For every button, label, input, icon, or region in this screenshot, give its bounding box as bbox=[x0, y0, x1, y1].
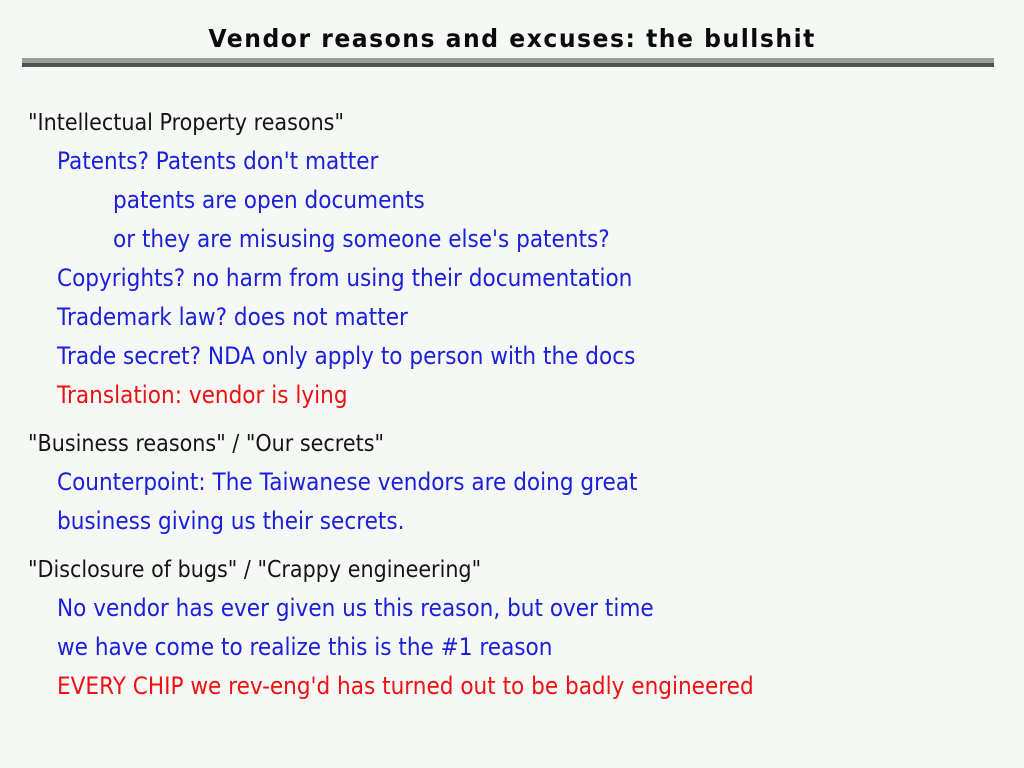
section-spacer bbox=[0, 415, 1024, 425]
title-divider-rule bbox=[22, 58, 994, 67]
page-title: Vendor reasons and excuses: the bullshit bbox=[208, 24, 815, 54]
section-spacer bbox=[0, 541, 1024, 551]
bullet-line: or they are misusing someone else's pate… bbox=[113, 220, 933, 259]
bullet-line: Trade secret? NDA only apply to person w… bbox=[57, 337, 927, 376]
section-heading: "Disclosure of bugs" / "Crappy engineeri… bbox=[28, 551, 924, 589]
bullet-line: Patents? Patents don't matter bbox=[57, 142, 927, 181]
slide-title-block: Vendor reasons and excuses: the bullshit bbox=[0, 24, 1024, 54]
divider-dark-band bbox=[22, 63, 994, 67]
bullet-line: business giving us their secrets. bbox=[57, 502, 927, 541]
bullet-line: we have come to realize this is the #1 r… bbox=[57, 628, 927, 667]
bullet-line: Trademark law? does not matter bbox=[57, 298, 927, 337]
bullet-line-emphasis: EVERY CHIP we rev-eng'd has turned out t… bbox=[57, 667, 927, 706]
bullet-line: patents are open documents bbox=[113, 181, 933, 220]
slide-body: "Intellectual Property reasons"Patents? … bbox=[0, 104, 1024, 706]
section-heading: "Business reasons" / "Our secrets" bbox=[28, 425, 924, 463]
section-heading: "Intellectual Property reasons" bbox=[28, 104, 924, 142]
bullet-line: No vendor has ever given us this reason,… bbox=[57, 589, 927, 628]
bullet-line: Counterpoint: The Taiwanese vendors are … bbox=[57, 463, 927, 502]
bullet-line-emphasis: Translation: vendor is lying bbox=[57, 376, 927, 415]
bullet-line: Copyrights? no harm from using their doc… bbox=[57, 259, 927, 298]
slide-canvas: Vendor reasons and excuses: the bullshit… bbox=[0, 0, 1024, 768]
